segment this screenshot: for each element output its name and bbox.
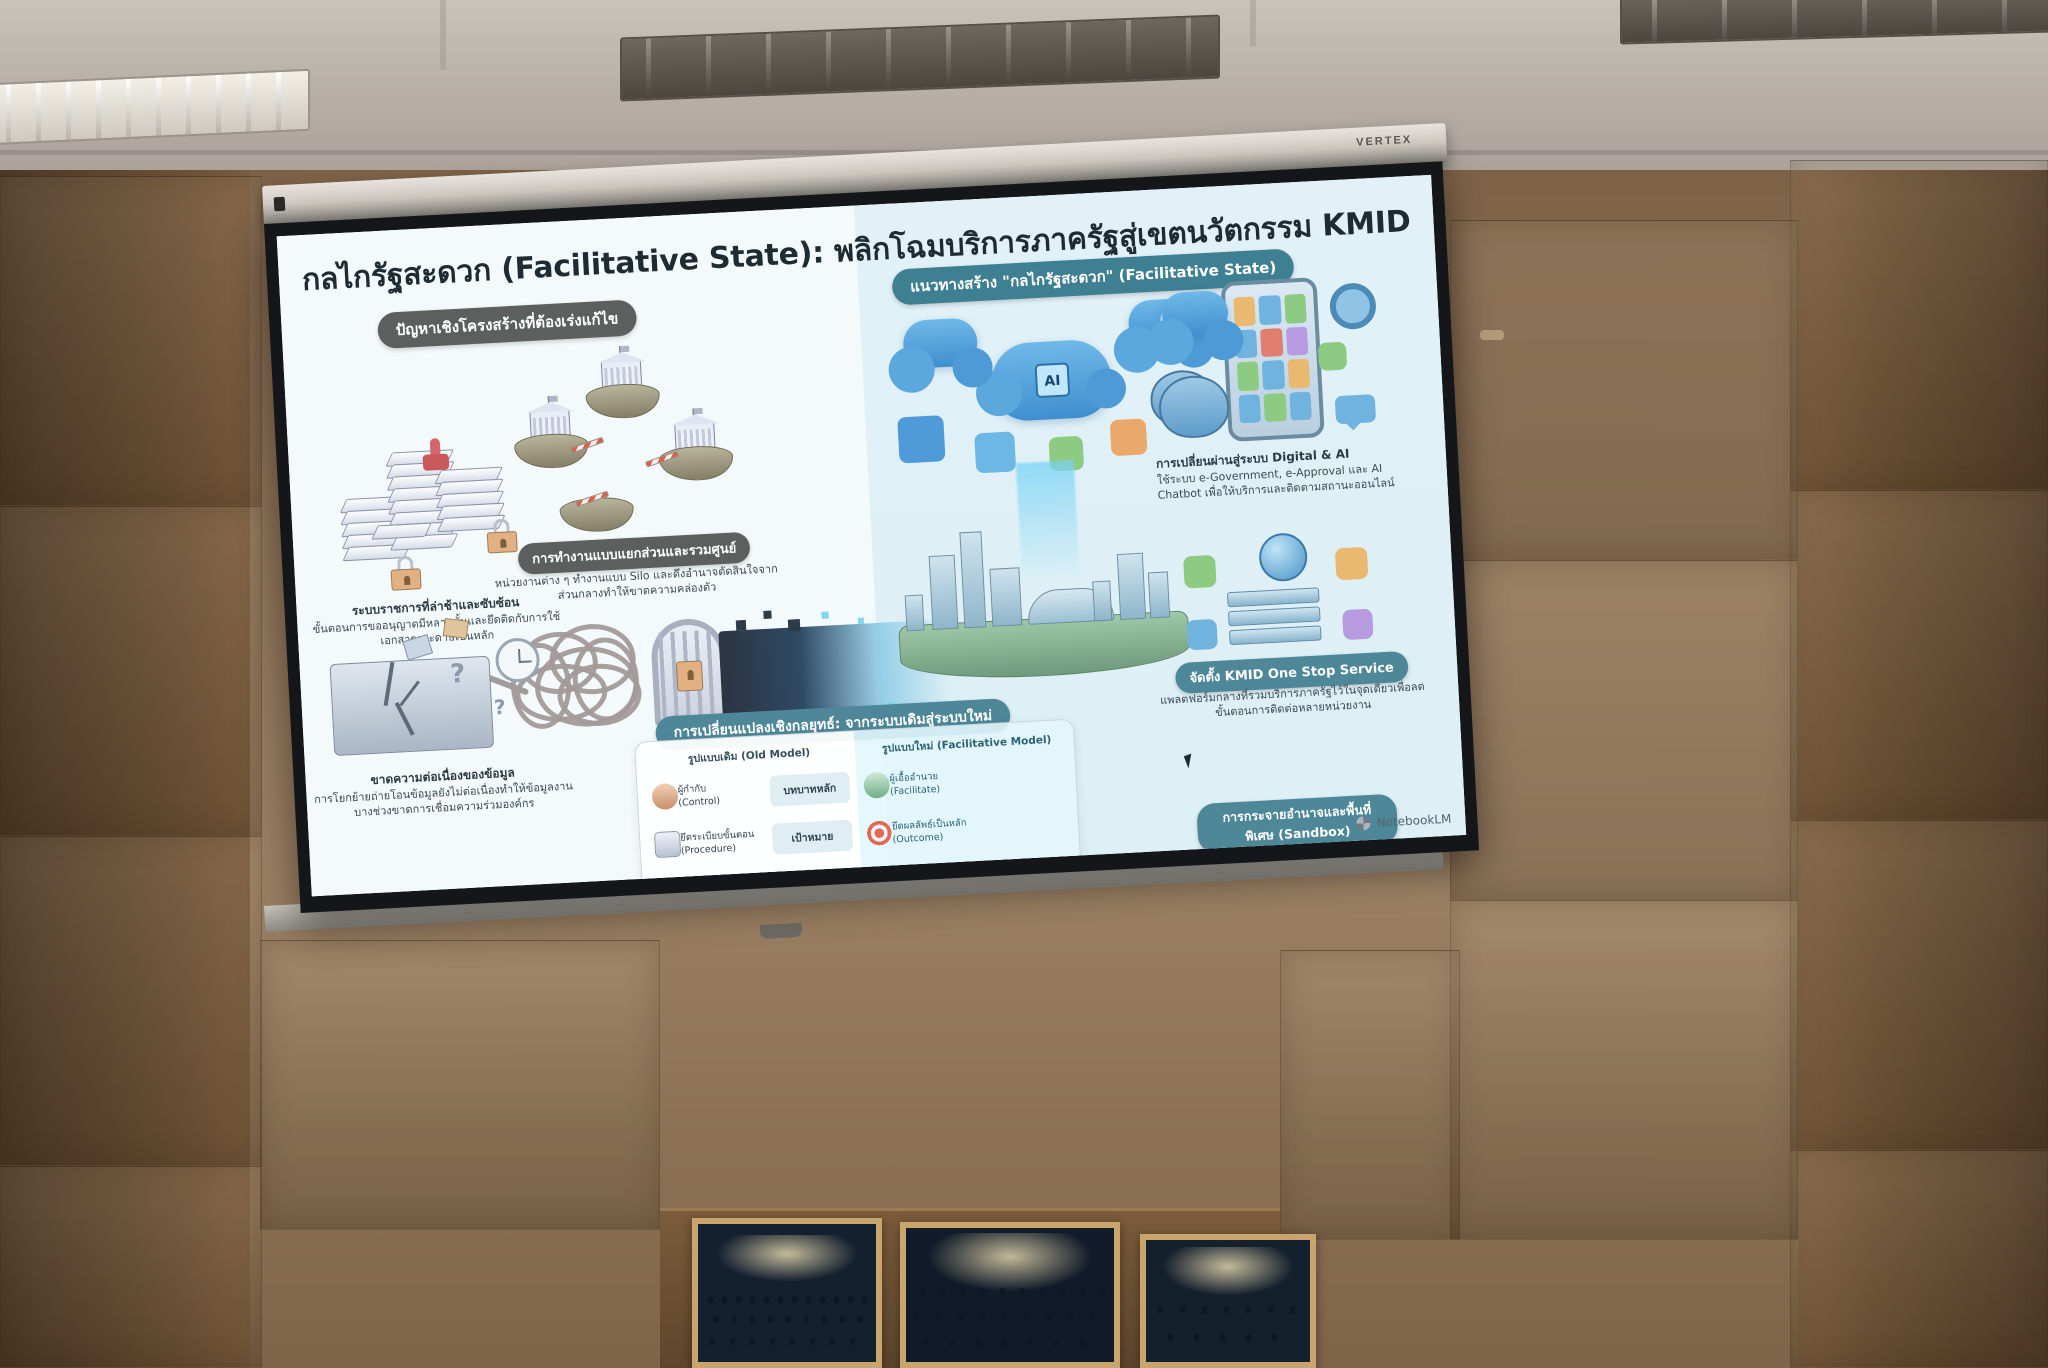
comparison-new-label: ยึดผลลัพธ์เป็นหลัก (Outcome) [892,814,993,845]
server-stack-icon [1227,587,1322,648]
wall-panel [1790,490,2048,820]
comparison-mid-label: บทบาทหลัก [769,771,851,806]
conference-room-photo: ····· VERTEX กลไกรัฐสะดวก (Facilitative … [0,0,2048,1368]
wall-panel [1790,820,2048,1150]
padlock-icon [390,555,422,591]
wall-panel [0,836,262,1166]
framed-photo [1140,1234,1316,1368]
question-mark-icon: ? [449,659,466,690]
mobile-app-illustration [1220,277,1324,442]
projector-screen-pull-handle[interactable] [760,923,803,939]
facilitator-icon [863,772,890,799]
locked-gate-illustration [650,617,729,726]
smart-city-illustration [893,519,1191,684]
ai-chip-icon: AI [1035,362,1071,398]
screen-case-sublabel: ····· [272,212,287,220]
framed-photo [900,1222,1120,1368]
wall-panel [260,940,660,1230]
wall-panel [1280,950,1460,1240]
comparison-mid-label: เป้าหมาย [772,819,854,854]
padlock-icon [676,660,704,691]
document-icon [443,618,469,639]
comparison-old-label: ผู้กำกับ (Control) [677,778,770,809]
padlock-icon [486,518,518,554]
control-officer-icon [651,783,678,810]
wall-panel [1790,1150,2048,1368]
tangled-cables-illustration [508,617,664,745]
wall-panel [0,176,262,506]
network-node-icon [1110,418,1148,456]
screen-brand-label: VERTEX [1356,134,1413,149]
chat-bubble-icon [1335,394,1376,424]
wall-panel [0,506,262,836]
question-mark-icon: ? [493,695,506,720]
cloud-user-icon [1161,290,1229,337]
target-icon [866,819,893,846]
service-node-icon [1183,555,1217,589]
screen-status-led [274,197,286,212]
service-node-icon [1186,619,1218,651]
clipboard-icon [654,831,681,858]
projector-screen: กลไกรัฐสะดวก (Facilitative State): พลิกโ… [264,161,1479,913]
wall-panel [1790,160,2048,490]
paperwork-stack-illustration [316,393,545,584]
network-node-icon [1318,342,1347,371]
comparison-new-label: ผู้เอื้ออำนวย (Facilitate) [889,766,990,797]
ceiling-panel-line [1250,0,1256,46]
notebooklm-logo-icon [1356,816,1371,831]
upload-cloud-icon [902,317,978,369]
comparison-old-label: ยึดระเบียบขั้นตอน (Procedure) [680,826,773,857]
broken-data-disk-illustration [330,656,495,756]
database-node-icon [897,415,945,463]
wall-light-reflection [1480,330,1504,340]
comparison-card: รูปแบบเดิม (Old Model) รูปแบบใหม่ (Facil… [634,719,1083,897]
rubber-stamp-icon [422,438,450,473]
laptop-node-icon [974,431,1016,473]
wall-panel [0,1166,262,1368]
framed-photo [692,1218,882,1368]
slide-canvas: กลไกรัฐสะดวก (Facilitative State): พลิกโ… [277,175,1467,897]
service-node-icon [1335,547,1369,581]
wall-panel [1450,220,1798,560]
ceiling-panel-line [440,0,446,70]
wall-panel [1450,900,1798,1240]
service-node-icon [1342,609,1374,641]
wall-panel [1450,560,1798,900]
